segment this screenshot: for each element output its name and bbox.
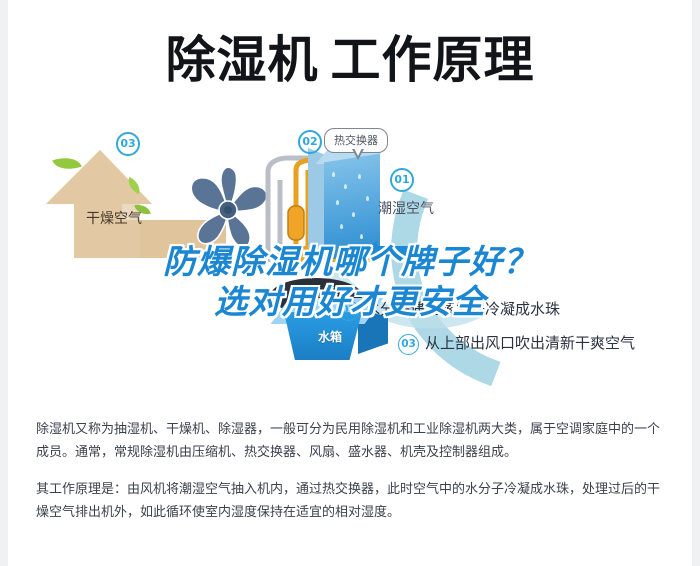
water-droplet-icon [358, 174, 361, 179]
step-number-03-badge: 03 [116, 132, 140, 156]
page-title-part-b: 工作原理 [331, 31, 535, 89]
dehumidifier-diagram: 水箱 03 02 01 热交换器 干燥空气 潮湿空气 02水分子遇到蒸发器冷凝成… [8, 120, 692, 395]
water-droplet-icon [352, 212, 355, 217]
body-paragraph-2: 其工作原理是：由风机将潮湿空气抽入机内，通过热交换器，此时空气中的水分子冷凝成水… [36, 478, 666, 524]
body-paragraph-1: 除湿机又称为抽湿机、干燥机、除湿器，一般可分为民用除湿机和工业除湿机两大类，属于… [36, 418, 666, 464]
step-number-02-badge: 02 [298, 130, 322, 154]
step-description-03: 03从上部出风口吹出清新干爽空气 [398, 332, 635, 355]
page-root: 除湿机工作原理 [0, 0, 700, 566]
body-copy: 除湿机又称为抽湿机、干燥机、除湿器，一般可分为民用除湿机和工业除湿机两大类，属于… [36, 418, 666, 524]
step-number-01-badge: 01 [390, 168, 414, 192]
water-droplet-icon [332, 172, 335, 177]
water-droplet-icon [340, 224, 343, 229]
step-description-03-text: 从上部出风口吹出清新干爽空气 [425, 334, 635, 352]
callout-tail-icon [352, 149, 364, 160]
step-description-02-text: 水分子遇到蒸发器冷凝成水珠 [365, 300, 560, 318]
water-droplet-icon [360, 234, 363, 239]
step-description-02: 02水分子遇到蒸发器冷凝成水珠 [338, 298, 560, 321]
water-droplet-icon [344, 184, 347, 189]
step-number-02-inline-badge: 02 [338, 300, 359, 321]
page-title-part-a: 除湿机 [166, 31, 319, 89]
water-droplet-icon [366, 196, 369, 201]
page-title: 除湿机工作原理 [0, 30, 700, 90]
dry-air-label: 干燥空气 [86, 208, 142, 228]
humid-air-label: 潮湿空气 [378, 198, 434, 218]
water-tank-label: 水箱 [300, 328, 360, 345]
water-droplet-icon [336, 200, 339, 205]
air-intake-arrow-icon [376, 246, 430, 256]
step-number-03-inline-badge: 03 [398, 334, 419, 355]
